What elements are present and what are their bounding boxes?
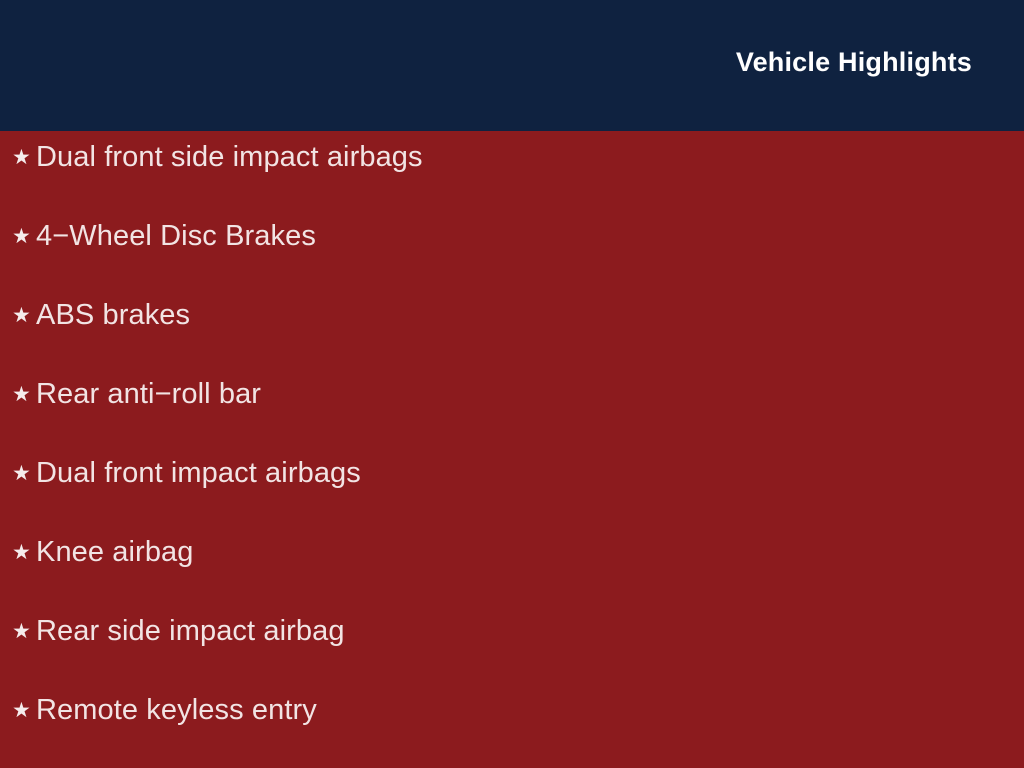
star-icon: ★: [12, 684, 36, 736]
list-item: ★ Dual front side impact airbags: [0, 131, 1024, 210]
list-item-label: Dual front side impact airbags: [36, 131, 423, 183]
list-item: ★ Rear anti−roll bar: [0, 368, 1024, 447]
slide-canvas: Vehicle Highlights ★ Dual front side imp…: [0, 0, 1024, 768]
star-icon: ★: [12, 289, 36, 341]
star-icon: ★: [12, 368, 36, 420]
header-bar: Vehicle Highlights: [0, 0, 1024, 131]
page-title: Vehicle Highlights: [736, 45, 972, 79]
content-area: ★ Dual front side impact airbags ★ 4−Whe…: [0, 131, 1024, 768]
star-icon: ★: [12, 210, 36, 262]
star-icon: ★: [12, 605, 36, 657]
list-item-label: Rear anti−roll bar: [36, 368, 261, 420]
list-item: ★ ABS brakes: [0, 289, 1024, 368]
list-item-label: Rear side impact airbag: [36, 605, 345, 657]
list-item: ★ Dual front impact airbags: [0, 447, 1024, 526]
list-item-label: Knee airbag: [36, 526, 194, 578]
list-item: ★ Rear side impact airbag: [0, 605, 1024, 684]
star-icon: ★: [12, 447, 36, 499]
list-item: ★ 4−Wheel Disc Brakes: [0, 210, 1024, 289]
list-item: ★ Remote keyless entry: [0, 684, 1024, 763]
list-item: ★ Knee airbag: [0, 526, 1024, 605]
list-item-label: 4−Wheel Disc Brakes: [36, 210, 316, 262]
list-item-label: Dual front impact airbags: [36, 447, 361, 499]
star-icon: ★: [12, 526, 36, 578]
list-item-label: Remote keyless entry: [36, 684, 317, 736]
star-icon: ★: [12, 131, 36, 183]
vehicle-highlights-list: ★ Dual front side impact airbags ★ 4−Whe…: [0, 131, 1024, 763]
list-item-label: ABS brakes: [36, 289, 190, 341]
